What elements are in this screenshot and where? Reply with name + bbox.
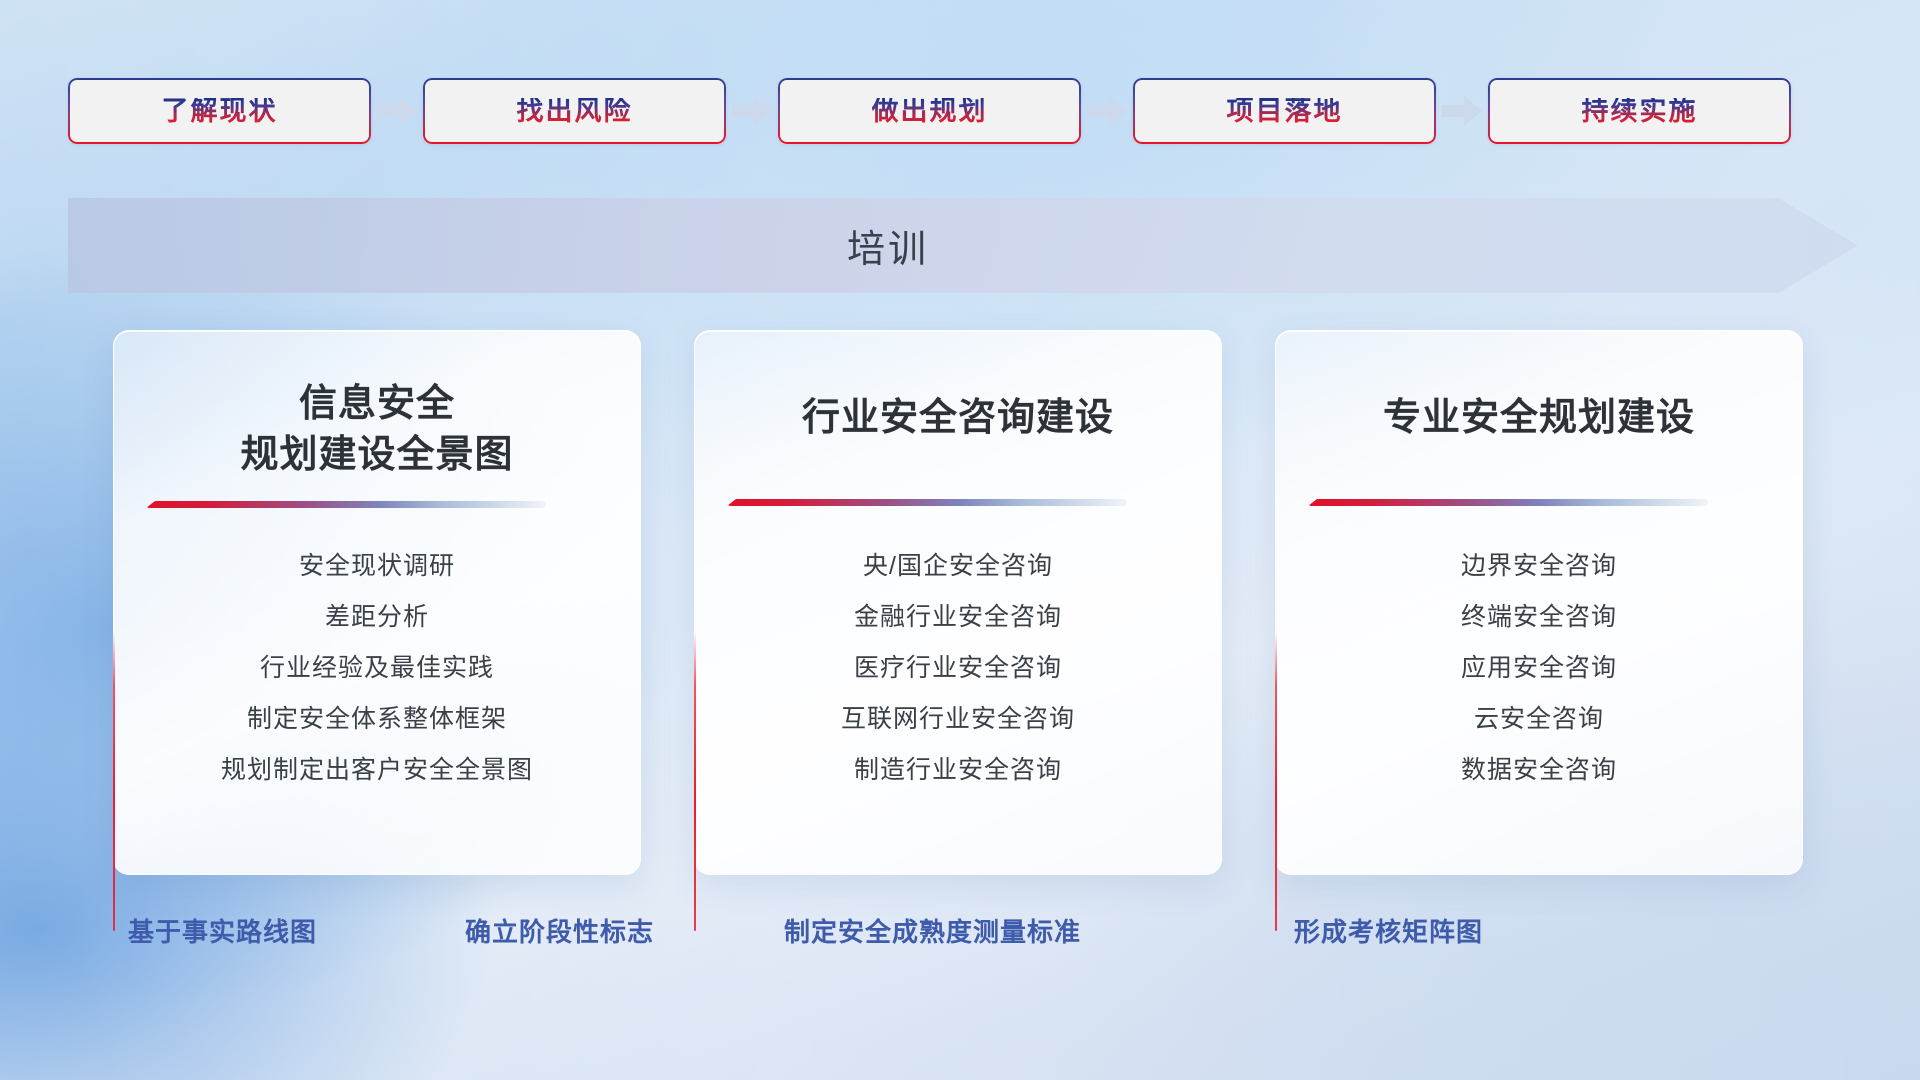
process-step-3-label: 做出规划 xyxy=(872,98,988,125)
card-title: 行业安全咨询建设 xyxy=(695,393,1221,444)
list-item: 互联网行业安全咨询 xyxy=(841,694,1075,745)
footer-label-row: 基于事实路线图 确立阶段性标志 制定安全成熟度测量标准 形成考核矩阵图 xyxy=(0,912,1920,962)
card-divider xyxy=(727,499,1127,506)
card-row: 信息安全 规划建设全景图 安全现状调研 差距分析 行业经验及最佳实践 制定安全体… xyxy=(0,330,1920,875)
card-item-list: 边界安全咨询 终端安全咨询 应用安全咨询 云安全咨询 数据安全咨询 xyxy=(1276,541,1802,796)
process-step-1-label: 了解现状 xyxy=(162,98,278,125)
banner-label: 培训 xyxy=(68,198,1858,293)
training-banner: 培训 xyxy=(68,198,1858,293)
process-step-2[interactable]: 找出风险 xyxy=(423,78,726,144)
card-divider xyxy=(146,501,546,508)
process-step-row: 了解现状 找出风险 做出规划 项目落地 xyxy=(68,78,1852,144)
process-step-4-label: 项目落地 xyxy=(1227,98,1343,125)
process-step-5[interactable]: 持续实施 xyxy=(1488,78,1791,144)
list-item: 终端安全咨询 xyxy=(1461,592,1617,643)
list-item: 制定安全体系整体框架 xyxy=(247,694,507,745)
footer-label-2: 确立阶段性标志 xyxy=(465,912,654,949)
card-item-list: 央/国企安全咨询 金融行业安全咨询 医疗行业安全咨询 互联网行业安全咨询 制造行… xyxy=(695,541,1221,796)
process-arrow-4-icon xyxy=(1436,78,1488,144)
slide-canvas: 了解现状 找出风险 做出规划 项目落地 xyxy=(0,0,1920,1080)
process-arrow-2-icon xyxy=(726,78,778,144)
process-step-4[interactable]: 项目落地 xyxy=(1133,78,1436,144)
footer-label-4: 形成考核矩阵图 xyxy=(1294,912,1483,949)
card-title: 信息安全 规划建设全景图 xyxy=(114,379,640,482)
process-arrow-3-icon xyxy=(1081,78,1133,144)
process-step-5-label: 持续实施 xyxy=(1582,98,1698,125)
card-item-list: 安全现状调研 差距分析 行业经验及最佳实践 制定安全体系整体框架 规划制定出客户… xyxy=(114,541,640,796)
list-item: 医疗行业安全咨询 xyxy=(854,643,1062,694)
list-item: 应用安全咨询 xyxy=(1461,643,1617,694)
card-security-panorama[interactable]: 信息安全 规划建设全景图 安全现状调研 差距分析 行业经验及最佳实践 制定安全体… xyxy=(113,330,641,875)
list-item: 行业经验及最佳实践 xyxy=(260,643,494,694)
list-item: 制造行业安全咨询 xyxy=(854,745,1062,796)
list-item: 央/国企安全咨询 xyxy=(863,541,1053,592)
list-item: 金融行业安全咨询 xyxy=(854,592,1062,643)
list-item: 安全现状调研 xyxy=(299,541,455,592)
process-step-3[interactable]: 做出规划 xyxy=(778,78,1081,144)
footer-label-1: 基于事实路线图 xyxy=(128,912,317,949)
card-industry-consulting[interactable]: 行业安全咨询建设 央/国企安全咨询 金融行业安全咨询 医疗行业安全咨询 互联网行… xyxy=(694,330,1222,875)
list-item: 规划制定出客户安全全景图 xyxy=(221,745,533,796)
process-arrow-1-icon xyxy=(371,78,423,144)
list-item: 差距分析 xyxy=(325,592,429,643)
card-divider xyxy=(1308,499,1708,506)
footer-label-3: 制定安全成熟度测量标准 xyxy=(784,912,1081,949)
process-step-2-label: 找出风险 xyxy=(517,98,633,125)
list-item: 云安全咨询 xyxy=(1474,694,1604,745)
process-step-1[interactable]: 了解现状 xyxy=(68,78,371,144)
card-title: 专业安全规划建设 xyxy=(1276,393,1802,444)
card-professional-planning[interactable]: 专业安全规划建设 边界安全咨询 终端安全咨询 应用安全咨询 云安全咨询 数据安全… xyxy=(1275,330,1803,875)
list-item: 数据安全咨询 xyxy=(1461,745,1617,796)
list-item: 边界安全咨询 xyxy=(1461,541,1617,592)
